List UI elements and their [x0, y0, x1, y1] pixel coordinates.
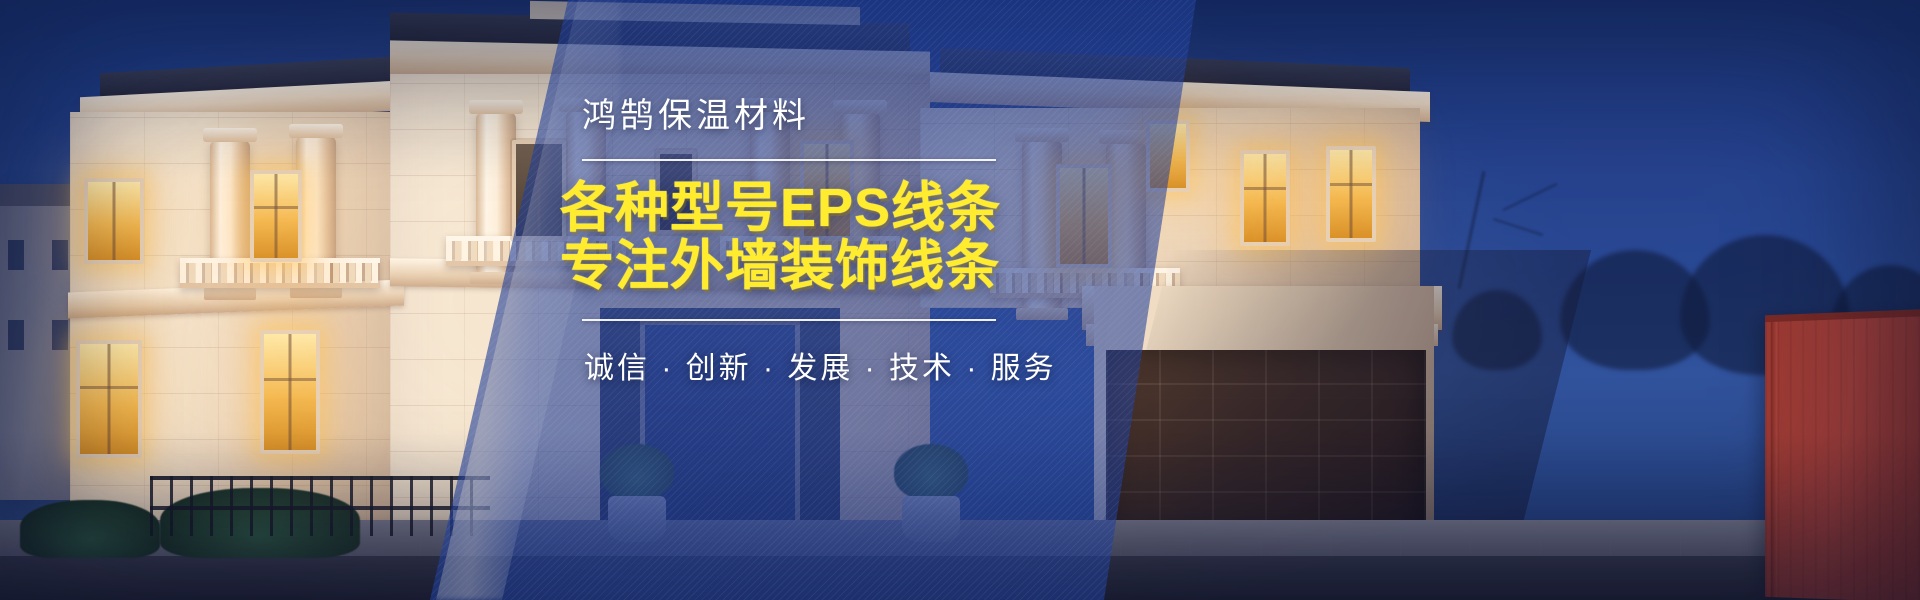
tagline: 诚信 · 创新 · 发展 · 技术 · 服务 — [556, 343, 1026, 387]
banner-content: 鸿鹄保温材料 各种型号EPS线条 专注外墙装饰线条 诚信 · 创新 · 发展 ·… — [0, 0, 1920, 600]
divider-bottom — [582, 319, 996, 321]
hero-banner: 鸿鹄保温材料 各种型号EPS线条 专注外墙装饰线条 诚信 · 创新 · 发展 ·… — [0, 0, 1920, 600]
headline-line-1: 各种型号EPS线条 — [556, 179, 1026, 237]
text-block: 鸿鹄保温材料 各种型号EPS线条 专注外墙装饰线条 诚信 · 创新 · 发展 ·… — [556, 96, 1026, 387]
headline-line-2: 专注外墙装饰线条 — [556, 237, 1026, 295]
divider-top — [582, 159, 996, 161]
brand-name: 鸿鹄保温材料 — [556, 96, 1026, 137]
